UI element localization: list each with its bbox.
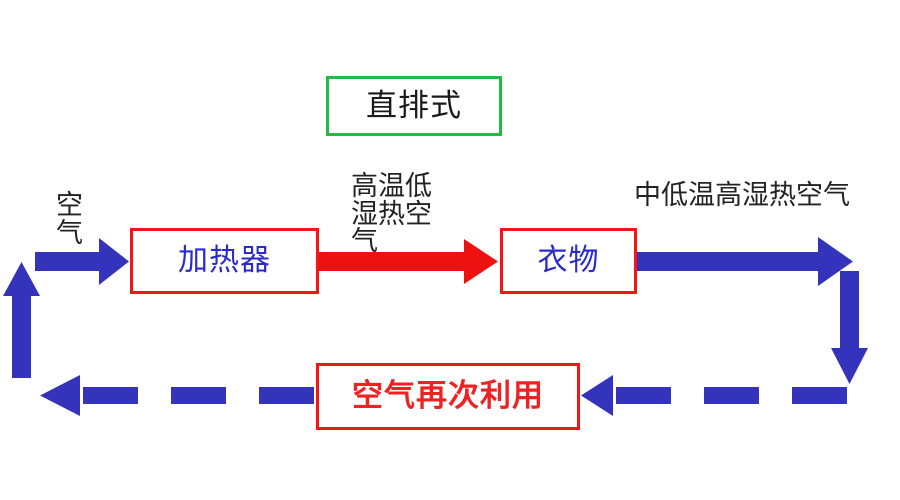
label-hot-dry-air: 高温低 湿热空 气 — [351, 173, 453, 256]
left-up-arrow — [3, 262, 40, 378]
diagram-title-box: 直排式 — [326, 76, 502, 136]
return-dashed-arrow-left — [40, 375, 314, 416]
node-clothes: 衣物 — [500, 228, 637, 294]
node-clothes-label: 衣物 — [538, 246, 600, 276]
node-heater: 加热器 — [130, 228, 319, 294]
node-air-reuse-label: 空气再次利用 — [352, 381, 544, 412]
return-dashed-arrow-right — [581, 375, 847, 416]
label-air-inlet: 空气 — [56, 192, 104, 247]
right-down-arrow — [831, 271, 868, 384]
diagram-title-label: 直排式 — [366, 91, 462, 122]
node-air-reuse: 空气再次利用 — [316, 363, 580, 430]
label-warm-humid-air: 中低温高湿热空气 — [634, 182, 850, 210]
node-heater-label: 加热器 — [178, 246, 271, 276]
diagram-canvas: 直排式 加热器 衣物 空气再次利用 空气 高温低 湿热空 气 中低温高湿热空气 — [0, 0, 900, 500]
clothes-outlet-arrow — [637, 237, 853, 286]
